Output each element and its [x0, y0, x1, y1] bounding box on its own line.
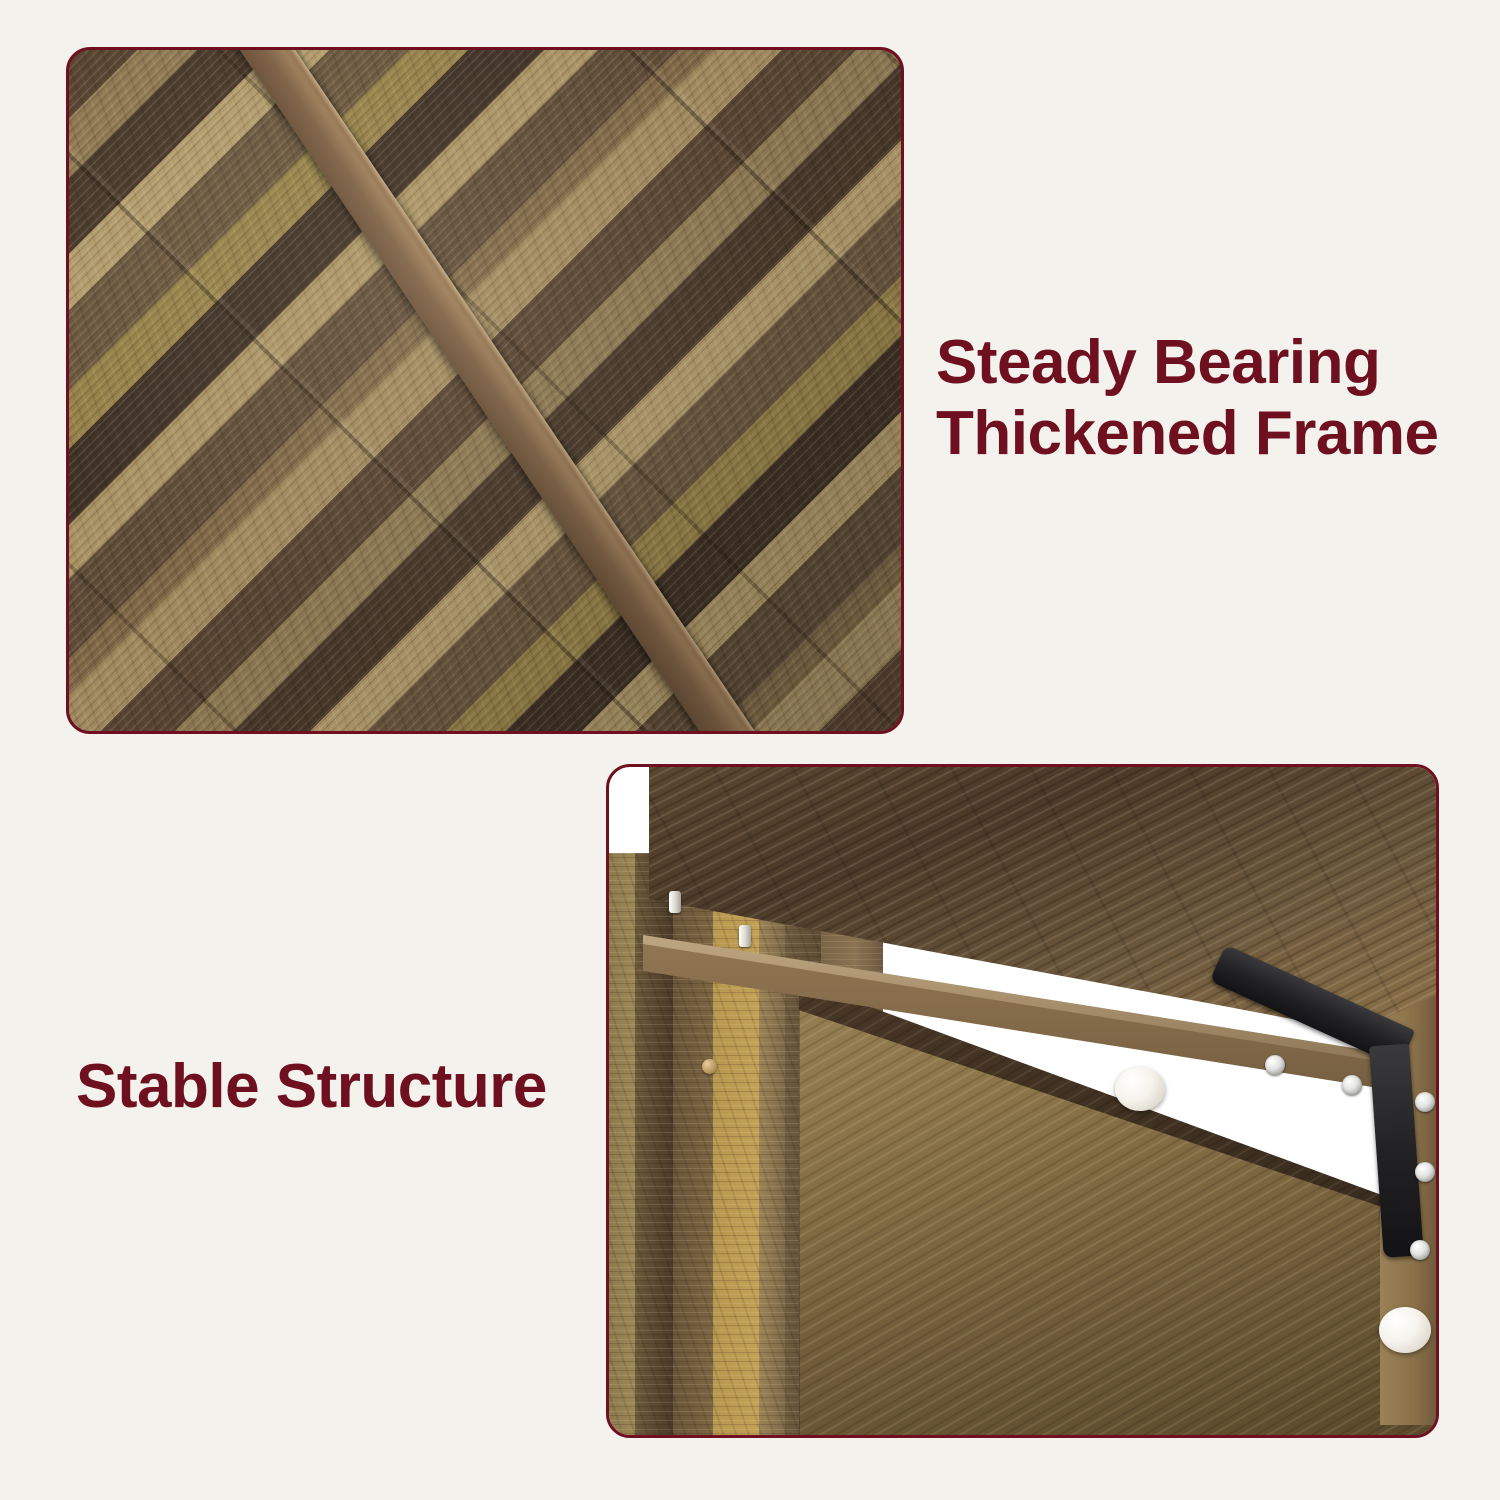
bracket-screw	[1415, 1092, 1435, 1112]
bracket-screw	[1410, 1240, 1430, 1260]
wood-plank-collage-image	[69, 50, 901, 731]
heading-stable-structure: Stable Structure	[76, 1052, 547, 1123]
leg-fastener-pin	[739, 925, 751, 947]
heading-steady-bearing-line2: Thickened Frame	[936, 399, 1438, 470]
bracket-screw	[1342, 1075, 1362, 1095]
wood-tabletop-detail-panel	[66, 47, 904, 734]
plastic-cap-cover	[1115, 1067, 1165, 1111]
lighting-vignette	[69, 50, 901, 731]
table-corner-photo	[609, 767, 1436, 1435]
leg-fastener-pin	[669, 891, 681, 913]
plastic-cap-cover	[1379, 1307, 1431, 1353]
table-leg	[609, 853, 821, 1435]
infographic-page: Steady Bearing Thickened Frame Stable St…	[0, 0, 1500, 1500]
leg-wood-texture	[609, 853, 821, 1435]
table-corner-structure-panel	[606, 764, 1439, 1438]
heading-steady-bearing-line1: Steady Bearing	[936, 328, 1438, 399]
bracket-screw	[1265, 1055, 1285, 1075]
bracket-screw	[1415, 1162, 1435, 1182]
heading-steady-bearing: Steady Bearing Thickened Frame	[936, 328, 1438, 469]
leg-screw-head	[702, 1059, 717, 1074]
